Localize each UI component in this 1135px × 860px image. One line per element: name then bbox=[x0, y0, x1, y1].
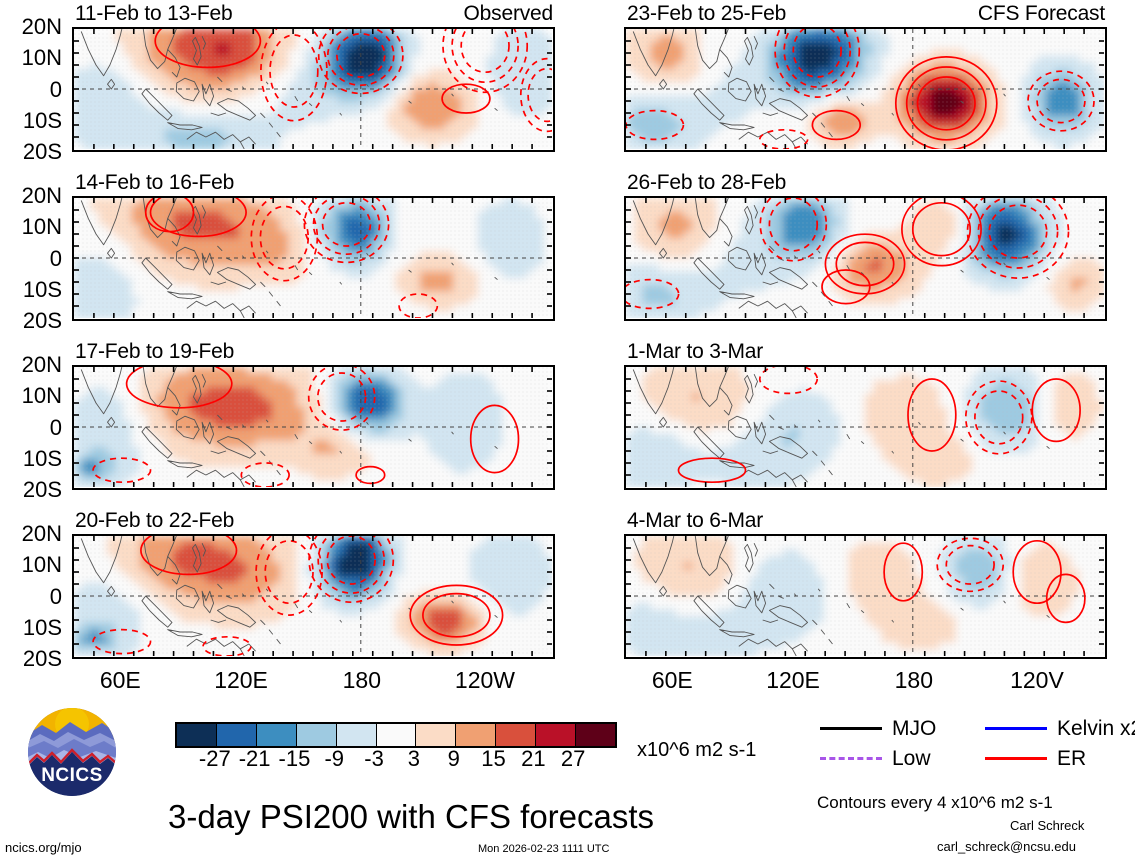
panel-title: 17-Feb to 19-Feb bbox=[75, 341, 234, 362]
x-axis-label: 60E bbox=[86, 669, 154, 692]
map-panel bbox=[624, 196, 1107, 321]
map-panel bbox=[624, 365, 1107, 490]
render-timestamp: Mon 2026-02-23 1111 UTC bbox=[478, 843, 609, 855]
legend-line-swatch bbox=[985, 757, 1047, 760]
map-panel bbox=[624, 27, 1107, 152]
colorbar-swatch bbox=[536, 724, 576, 746]
map-panel bbox=[72, 196, 555, 321]
y-axis-label: 10S bbox=[0, 448, 62, 470]
ncics-logo: NCICS bbox=[28, 708, 116, 796]
y-axis-label: 10N bbox=[0, 385, 62, 407]
legend-line-swatch bbox=[985, 727, 1047, 730]
y-axis-label: 20N bbox=[0, 185, 62, 207]
y-axis-label: 10N bbox=[0, 554, 62, 576]
colorbar-swatch bbox=[257, 724, 297, 746]
x-axis-label: 120E bbox=[207, 669, 275, 692]
map-panel bbox=[72, 365, 555, 490]
y-axis-label: 0 bbox=[0, 79, 62, 101]
site-url[interactable]: ncics.org/mjo bbox=[5, 841, 82, 855]
column-header-left: Observed bbox=[295, 3, 553, 24]
legend-line-swatch bbox=[820, 727, 882, 730]
y-axis-label: 20S bbox=[0, 479, 62, 501]
x-axis-label: 120W bbox=[451, 669, 519, 692]
legend-item: Low bbox=[820, 748, 931, 769]
x-axis-label: 180 bbox=[880, 669, 948, 692]
legend-label: MJO bbox=[892, 718, 936, 739]
colorbar-tick-label: 27 bbox=[547, 748, 599, 770]
figure-title: 3-day PSI200 with CFS forecasts bbox=[168, 800, 654, 833]
colorbar-swatch bbox=[576, 724, 615, 746]
legend-item: ER bbox=[985, 748, 1086, 769]
panel-title: 1-Mar to 3-Mar bbox=[627, 341, 763, 362]
y-axis-label: 0 bbox=[0, 417, 62, 439]
panel-title: 14-Feb to 16-Feb bbox=[75, 172, 234, 193]
legend-label: Kelvin x2 bbox=[1057, 718, 1135, 739]
colorbar-swatch bbox=[337, 724, 377, 746]
x-axis-label: 60E bbox=[638, 669, 706, 692]
y-axis-label: 10N bbox=[0, 47, 62, 69]
panel-title: 20-Feb to 22-Feb bbox=[75, 510, 234, 531]
legend-item: MJO bbox=[820, 718, 936, 739]
colorbar bbox=[175, 722, 617, 748]
legend-line-swatch bbox=[820, 757, 882, 760]
author-email: carl_schreck@ncsu.edu bbox=[937, 840, 1076, 854]
colorbar-swatch bbox=[377, 724, 417, 746]
y-axis-label: 20S bbox=[0, 141, 62, 163]
y-axis-label: 0 bbox=[0, 586, 62, 608]
legend-item: Kelvin x2 bbox=[985, 718, 1135, 739]
colorbar-swatch bbox=[297, 724, 337, 746]
colorbar-swatch bbox=[496, 724, 536, 746]
map-panel bbox=[72, 534, 555, 659]
y-axis-label: 20N bbox=[0, 354, 62, 376]
author-name: Carl Schreck bbox=[1010, 819, 1084, 833]
y-axis-label: 10S bbox=[0, 110, 62, 132]
y-axis-label: 20N bbox=[0, 523, 62, 545]
column-header-right: CFS Forecast bbox=[847, 3, 1105, 24]
ncics-logo-text: NCICS bbox=[28, 765, 116, 787]
contour-note: Contours every 4 x10^6 m2 s-1 bbox=[817, 793, 1053, 812]
legend-label: Low bbox=[892, 748, 931, 769]
map-panel bbox=[72, 27, 555, 152]
colorbar-swatch bbox=[416, 724, 456, 746]
y-axis-label: 10N bbox=[0, 216, 62, 238]
x-axis-label: 180 bbox=[328, 669, 396, 692]
y-axis-label: 10S bbox=[0, 279, 62, 301]
panel-title: 26-Feb to 28-Feb bbox=[627, 172, 786, 193]
y-axis-label: 20S bbox=[0, 648, 62, 670]
panel-title: 4-Mar to 6-Mar bbox=[627, 510, 763, 531]
y-axis-label: 20N bbox=[0, 16, 62, 38]
y-axis-label: 0 bbox=[0, 248, 62, 270]
legend-label: ER bbox=[1057, 748, 1086, 769]
colorbar-swatch bbox=[217, 724, 257, 746]
map-panel bbox=[624, 534, 1107, 659]
colorbar-units: x10^6 m2 s-1 bbox=[637, 740, 756, 760]
colorbar-swatch bbox=[177, 724, 217, 746]
y-axis-label: 20S bbox=[0, 310, 62, 332]
colorbar-swatch bbox=[456, 724, 496, 746]
panel-title: 23-Feb to 25-Feb bbox=[627, 3, 786, 24]
x-axis-label: 120V bbox=[1003, 669, 1071, 692]
panel-title: 11-Feb to 13-Feb bbox=[75, 3, 233, 24]
x-axis-label: 120E bbox=[759, 669, 827, 692]
y-axis-label: 10S bbox=[0, 617, 62, 639]
